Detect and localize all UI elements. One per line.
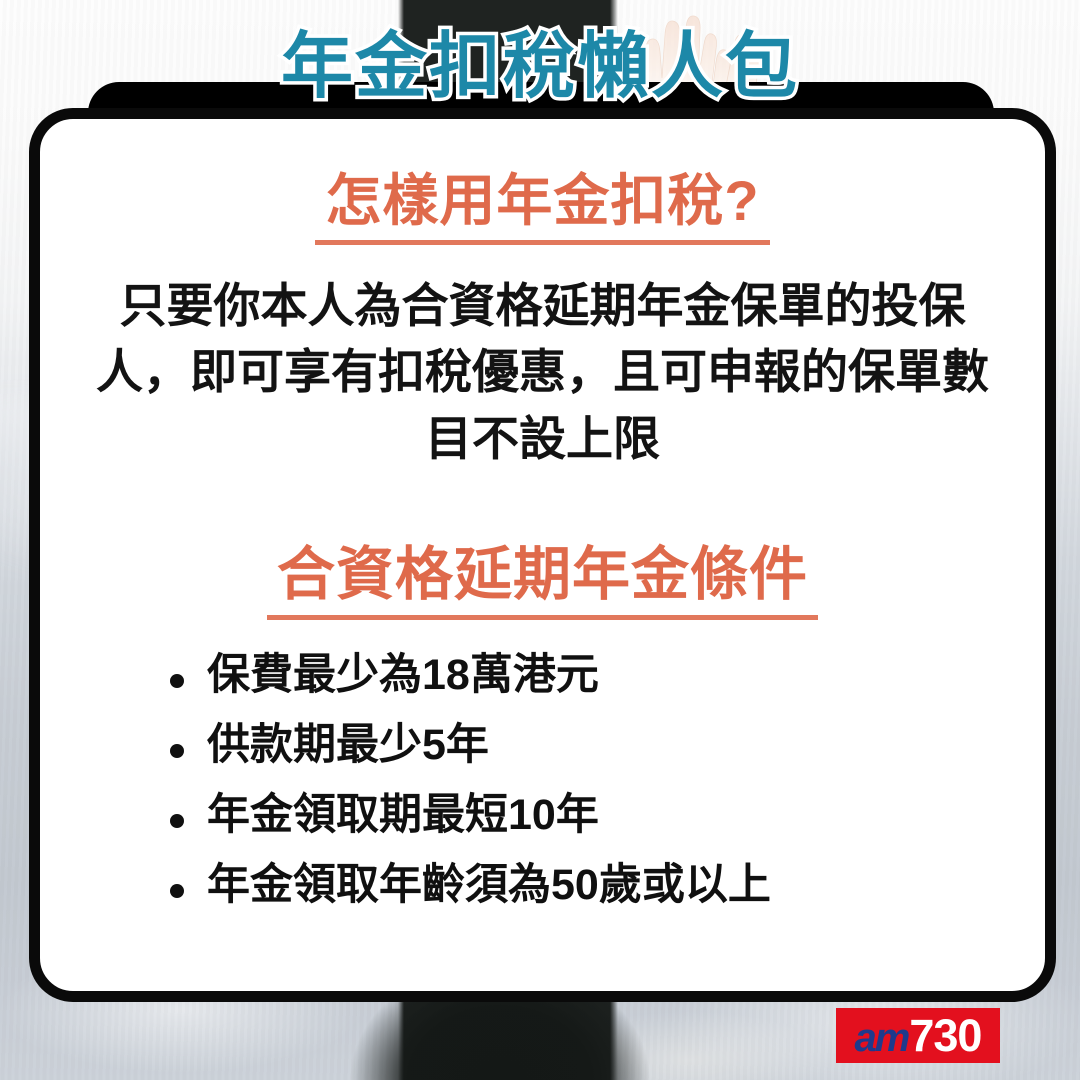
- list-item-label: 供款期最少5年: [207, 724, 489, 767]
- bullet-dot-icon: [170, 884, 184, 898]
- section-heading-conditions: 合資格延期年金條件: [86, 543, 999, 620]
- section-paragraph-how-to: 只要你本人為合資格延期年金保單的投保人，即可享有扣稅優惠，且可申報的保單數目不設…: [86, 273, 999, 473]
- logo-number: 730: [909, 1013, 981, 1058]
- bullet-dot-icon: [170, 744, 184, 758]
- page-title: 年金扣稅懶人包: [0, 30, 1080, 106]
- logo-prefix: am: [855, 1018, 909, 1058]
- am730-logo-inner: am 730: [855, 1013, 982, 1058]
- list-item: 年金領取年齡須為50歲或以上: [170, 864, 999, 907]
- conditions-bullet-list: 保費最少為18萬港元 供款期最少5年 年金領取期最短10年 年金領取年齡須為50…: [86, 654, 999, 907]
- section-heading-conditions-text: 合資格延期年金條件: [267, 543, 818, 620]
- list-item-label: 保費最少為18萬港元: [207, 654, 599, 697]
- section-heading-how-to: 怎樣用年金扣稅?: [86, 170, 999, 245]
- bullet-dot-icon: [170, 814, 184, 828]
- list-item: 保費最少為18萬港元: [170, 654, 999, 697]
- list-item: 供款期最少5年: [170, 724, 999, 767]
- am730-logo: am 730: [836, 1008, 1000, 1063]
- list-item: 年金領取期最短10年: [170, 794, 999, 837]
- card-content: 怎樣用年金扣稅? 只要你本人為合資格延期年金保單的投保人，即可享有扣稅優惠，且可…: [40, 108, 1045, 1002]
- section-heading-how-to-text: 怎樣用年金扣稅?: [315, 170, 769, 245]
- list-item-label: 年金領取年齡須為50歲或以上: [207, 864, 771, 907]
- list-item-label: 年金領取期最短10年: [207, 794, 599, 837]
- bullet-dot-icon: [170, 674, 184, 688]
- section-heading-conditions-wrap: 合資格延期年金條件: [86, 543, 999, 620]
